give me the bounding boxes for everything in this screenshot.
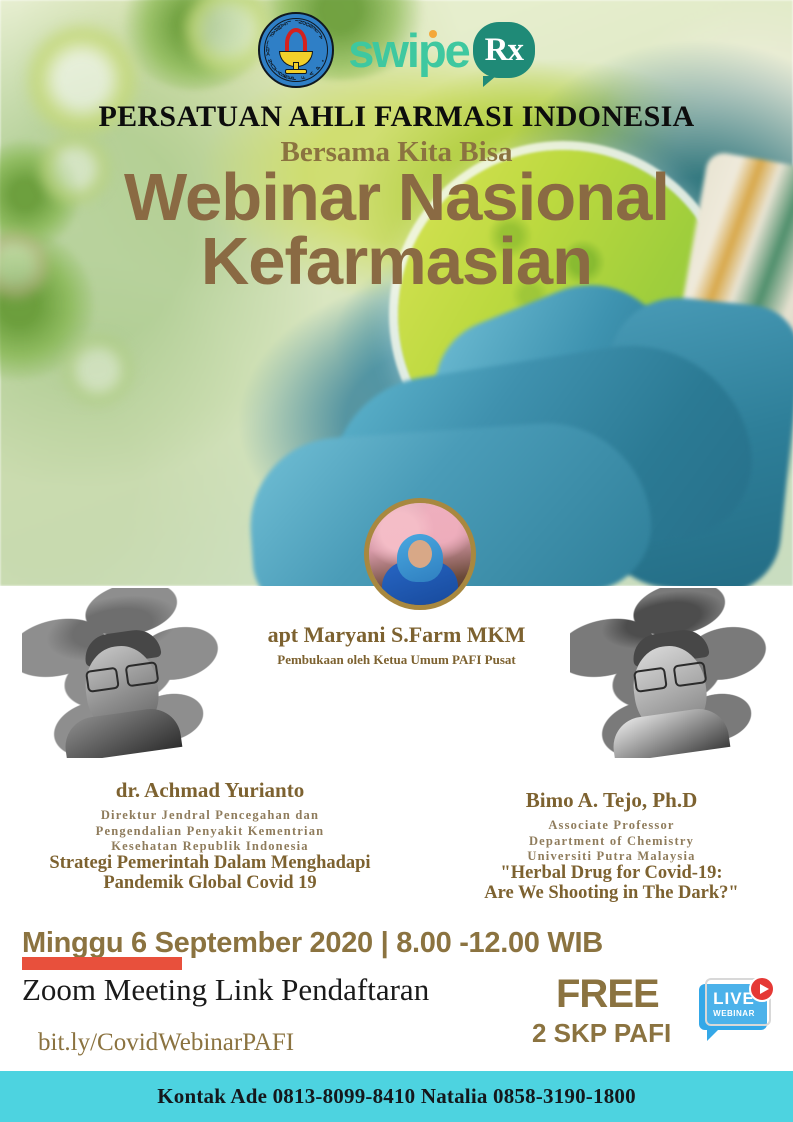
pafi-ring-text: PERSATUAN AHLI FARMASI INDONESIA* P A F … bbox=[260, 14, 332, 86]
contact-footer: Kontak Ade 0813-8099-8410 Natalia 0858-3… bbox=[0, 1071, 793, 1122]
speaker-right-affiliation: Associate Professor Department of Chemis… bbox=[430, 818, 793, 865]
title-line-2: Kefarmasian bbox=[0, 230, 793, 294]
affiliation-line: Direktur Jendral Pencegahan dan bbox=[0, 808, 420, 824]
avatar-speaker-left bbox=[22, 588, 222, 758]
topic-line: Are We Shooting in The Dark?" bbox=[430, 883, 793, 903]
swiperx-logo: swipe Rx bbox=[348, 22, 535, 78]
swipe-wordmark: swipe bbox=[348, 23, 469, 78]
registration-link[interactable]: bit.ly/CovidWebinarPAFI bbox=[38, 1029, 294, 1057]
live-badge-secondary-label: WEBINAR bbox=[707, 1009, 761, 1018]
webinar-poster: PERSATUAN AHLI FARMASI INDONESIA* P A F … bbox=[0, 0, 793, 1122]
avatar-face bbox=[408, 540, 432, 568]
platform-label: Zoom Meeting Link Pendaftaran bbox=[22, 972, 429, 1008]
play-icon bbox=[749, 976, 775, 1002]
page-title: Webinar Nasional Kefarmasian bbox=[0, 166, 793, 293]
affiliation-line: Pengendalian Penyakit Kementrian bbox=[0, 824, 420, 840]
organization-name: PERSATUAN AHLI FARMASI INDONESIA bbox=[0, 100, 793, 134]
live-webinar-badge-icon: LIVE WEBINAR bbox=[697, 976, 775, 1048]
logo-row: PERSATUAN AHLI FARMASI INDONESIA* P A F … bbox=[0, 10, 793, 90]
rx-bubble-icon: Rx bbox=[473, 22, 535, 78]
topic-line: Strategi Pemerintah Dalam Menghadapi bbox=[0, 853, 420, 873]
speaker-left-affiliation: Direktur Jendral Pencegahan dan Pengenda… bbox=[0, 808, 420, 855]
speaker-left-name: dr. Achmad Yurianto bbox=[0, 778, 420, 803]
speaker-right-name: Bimo A. Tejo, Ph.D bbox=[430, 788, 793, 813]
affiliation-line: Department of Chemistry bbox=[430, 834, 793, 850]
accent-bar bbox=[22, 957, 182, 970]
event-date-time: Minggu 6 September 2020 | 8.00 -12.00 WI… bbox=[22, 927, 603, 960]
pafi-logo-icon: PERSATUAN AHLI FARMASI INDONESIA* P A F … bbox=[258, 12, 334, 88]
swipe-dot-icon bbox=[429, 30, 437, 38]
price-label: FREE bbox=[556, 972, 659, 1017]
topic-line: Pandemik Global Covid 19 bbox=[0, 873, 420, 893]
contact-text: Kontak Ade 0813-8099-8410 Natalia 0858-3… bbox=[157, 1084, 636, 1109]
topic-line: "Herbal Drug for Covid-19: bbox=[430, 863, 793, 883]
bokeh-cell-icon bbox=[58, 330, 138, 410]
speaker-right-topic: "Herbal Drug for Covid-19: Are We Shooti… bbox=[430, 863, 793, 904]
affiliation-line: Associate Professor bbox=[430, 818, 793, 834]
speaker-left-topic: Strategi Pemerintah Dalam Menghadapi Pan… bbox=[0, 853, 420, 894]
rx-label: Rx bbox=[485, 32, 523, 69]
avatar-center-speaker bbox=[364, 498, 476, 610]
credits-label: 2 SKP PAFI bbox=[532, 1018, 671, 1049]
avatar-speaker-right bbox=[570, 588, 770, 758]
title-line-1: Webinar Nasional bbox=[0, 166, 793, 230]
